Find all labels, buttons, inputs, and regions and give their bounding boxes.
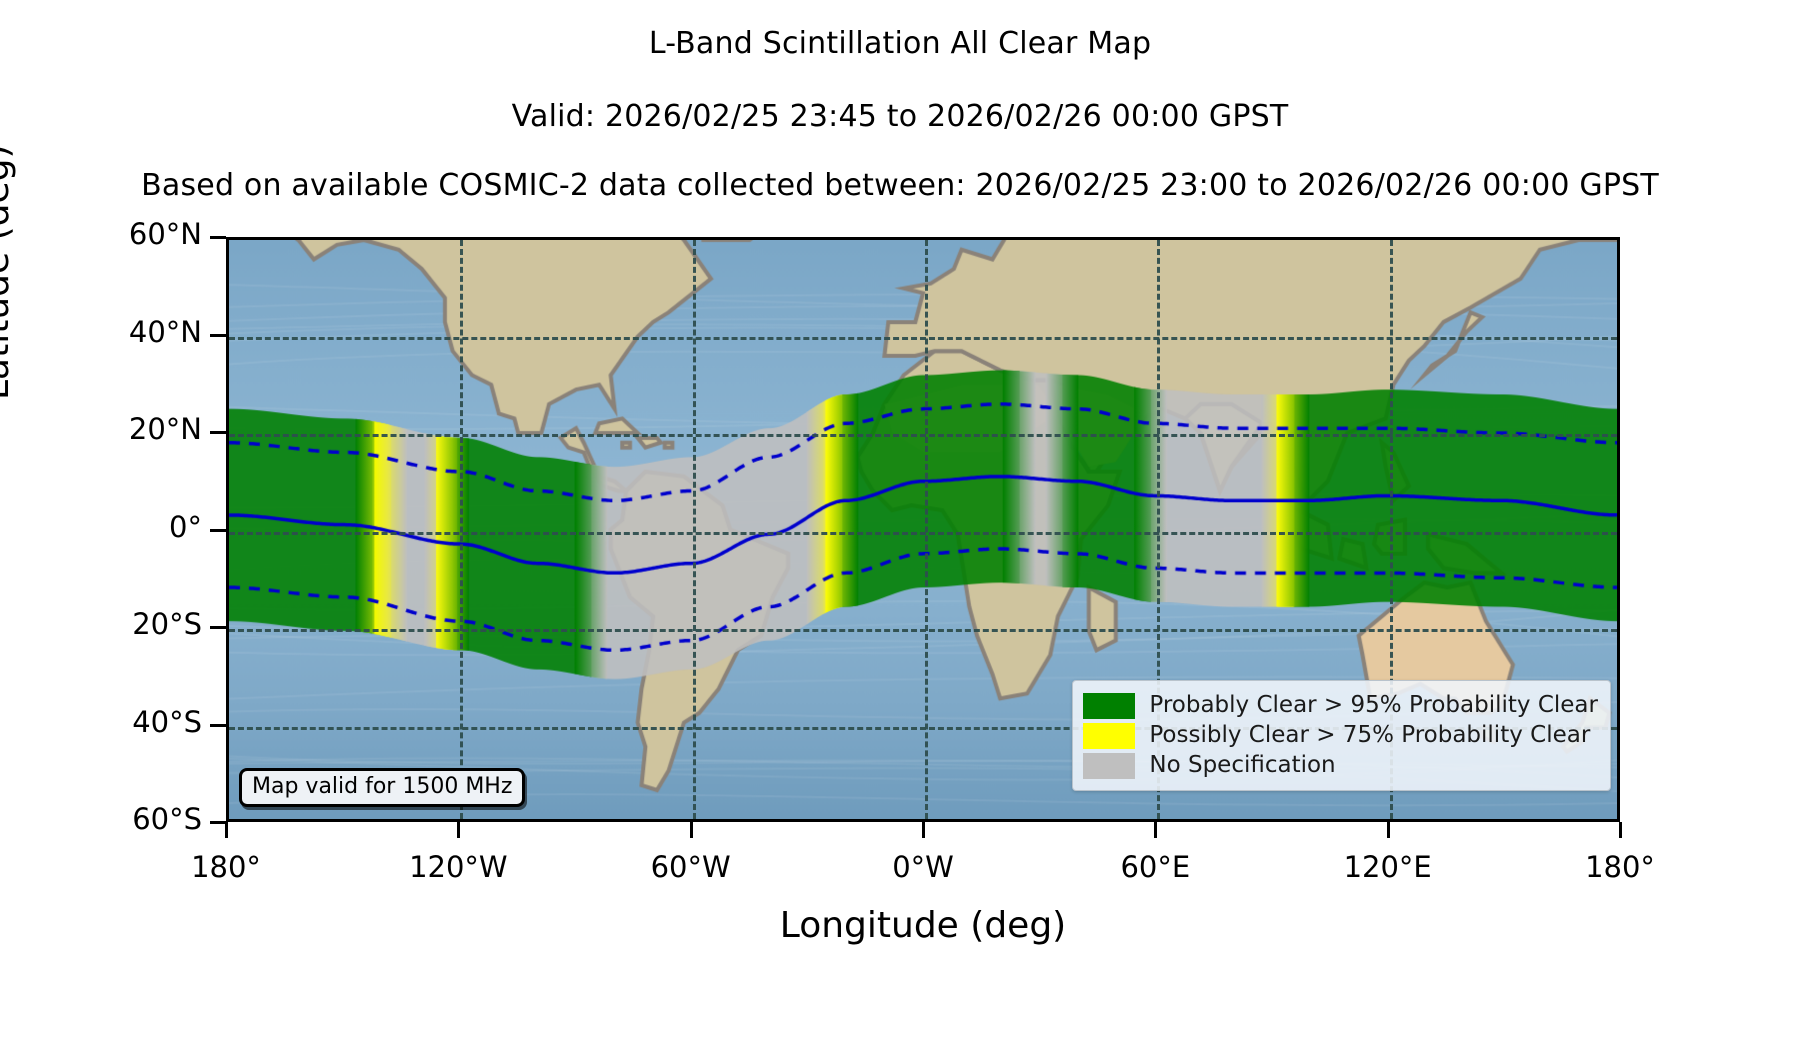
frequency-annotation: Map valid for 1500 MHz — [239, 768, 525, 807]
x-tick-mark — [1154, 822, 1157, 838]
x-tick-label: 60°W — [591, 850, 791, 884]
x-tick-label: 60°E — [1055, 850, 1255, 884]
y-tick-mark — [210, 334, 226, 337]
y-tick-label: 20°N — [22, 412, 202, 446]
grid-line-horizontal — [229, 629, 1617, 632]
grid-line-vertical — [925, 240, 928, 819]
y-axis-title: Latitude (deg) — [0, 144, 17, 400]
y-tick-mark — [210, 626, 226, 629]
y-tick-mark — [210, 236, 226, 239]
x-tick-mark — [1387, 822, 1390, 838]
legend[interactable]: Probably Clear > 95% Probability Clear P… — [1072, 680, 1611, 791]
legend-item: Possibly Clear > 75% Probability Clear — [1083, 722, 1598, 749]
y-tick-label: 40°N — [22, 315, 202, 349]
legend-label: No Specification — [1149, 752, 1335, 779]
x-tick-mark — [690, 822, 693, 838]
grid-line-horizontal — [229, 337, 1617, 340]
x-tick-label: 180° — [126, 850, 326, 884]
y-tick-mark — [210, 724, 226, 727]
y-tick-mark — [210, 431, 226, 434]
legend-swatch-no-spec — [1083, 753, 1135, 779]
valid-period: Valid: 2026/02/25 23:45 to 2026/02/26 00… — [0, 99, 1800, 134]
x-tick-mark — [457, 822, 460, 838]
y-tick-label: 20°S — [22, 607, 202, 641]
y-tick-label: 40°S — [22, 705, 202, 739]
y-tick-label: 0° — [22, 510, 202, 544]
x-tick-label: 0°W — [823, 850, 1023, 884]
grid-line-vertical — [693, 240, 696, 819]
y-tick-label: 60°N — [22, 217, 202, 251]
grid-line-horizontal — [229, 434, 1617, 437]
grid-line-horizontal — [229, 532, 1617, 535]
legend-label: Possibly Clear > 75% Probability Clear — [1149, 722, 1590, 749]
legend-swatch-probably-clear — [1083, 693, 1135, 719]
legend-label: Probably Clear > 95% Probability Clear — [1149, 692, 1598, 719]
legend-swatch-possibly-clear — [1083, 723, 1135, 749]
data-source-note: Based on available COSMIC-2 data collect… — [0, 168, 1800, 203]
x-tick-label: 120°E — [1288, 850, 1488, 884]
y-tick-mark — [210, 529, 226, 532]
scintillation-map[interactable]: Map valid for 1500 MHz Probably Clear > … — [226, 237, 1620, 822]
y-tick-mark — [210, 821, 226, 824]
x-tick-mark — [225, 822, 228, 838]
grid-line-vertical — [460, 240, 463, 819]
legend-item: No Specification — [1083, 752, 1598, 779]
title-block: L-Band Scintillation All Clear Map Valid… — [0, 0, 1800, 203]
legend-item: Probably Clear > 95% Probability Clear — [1083, 692, 1598, 719]
x-axis-title: Longitude (deg) — [226, 905, 1620, 946]
x-tick-label: 180° — [1520, 850, 1720, 884]
page-title: L-Band Scintillation All Clear Map — [0, 26, 1800, 61]
x-tick-mark — [922, 822, 925, 838]
x-tick-mark — [1619, 822, 1622, 838]
y-tick-label: 60°S — [22, 802, 202, 836]
x-tick-label: 120°W — [358, 850, 558, 884]
